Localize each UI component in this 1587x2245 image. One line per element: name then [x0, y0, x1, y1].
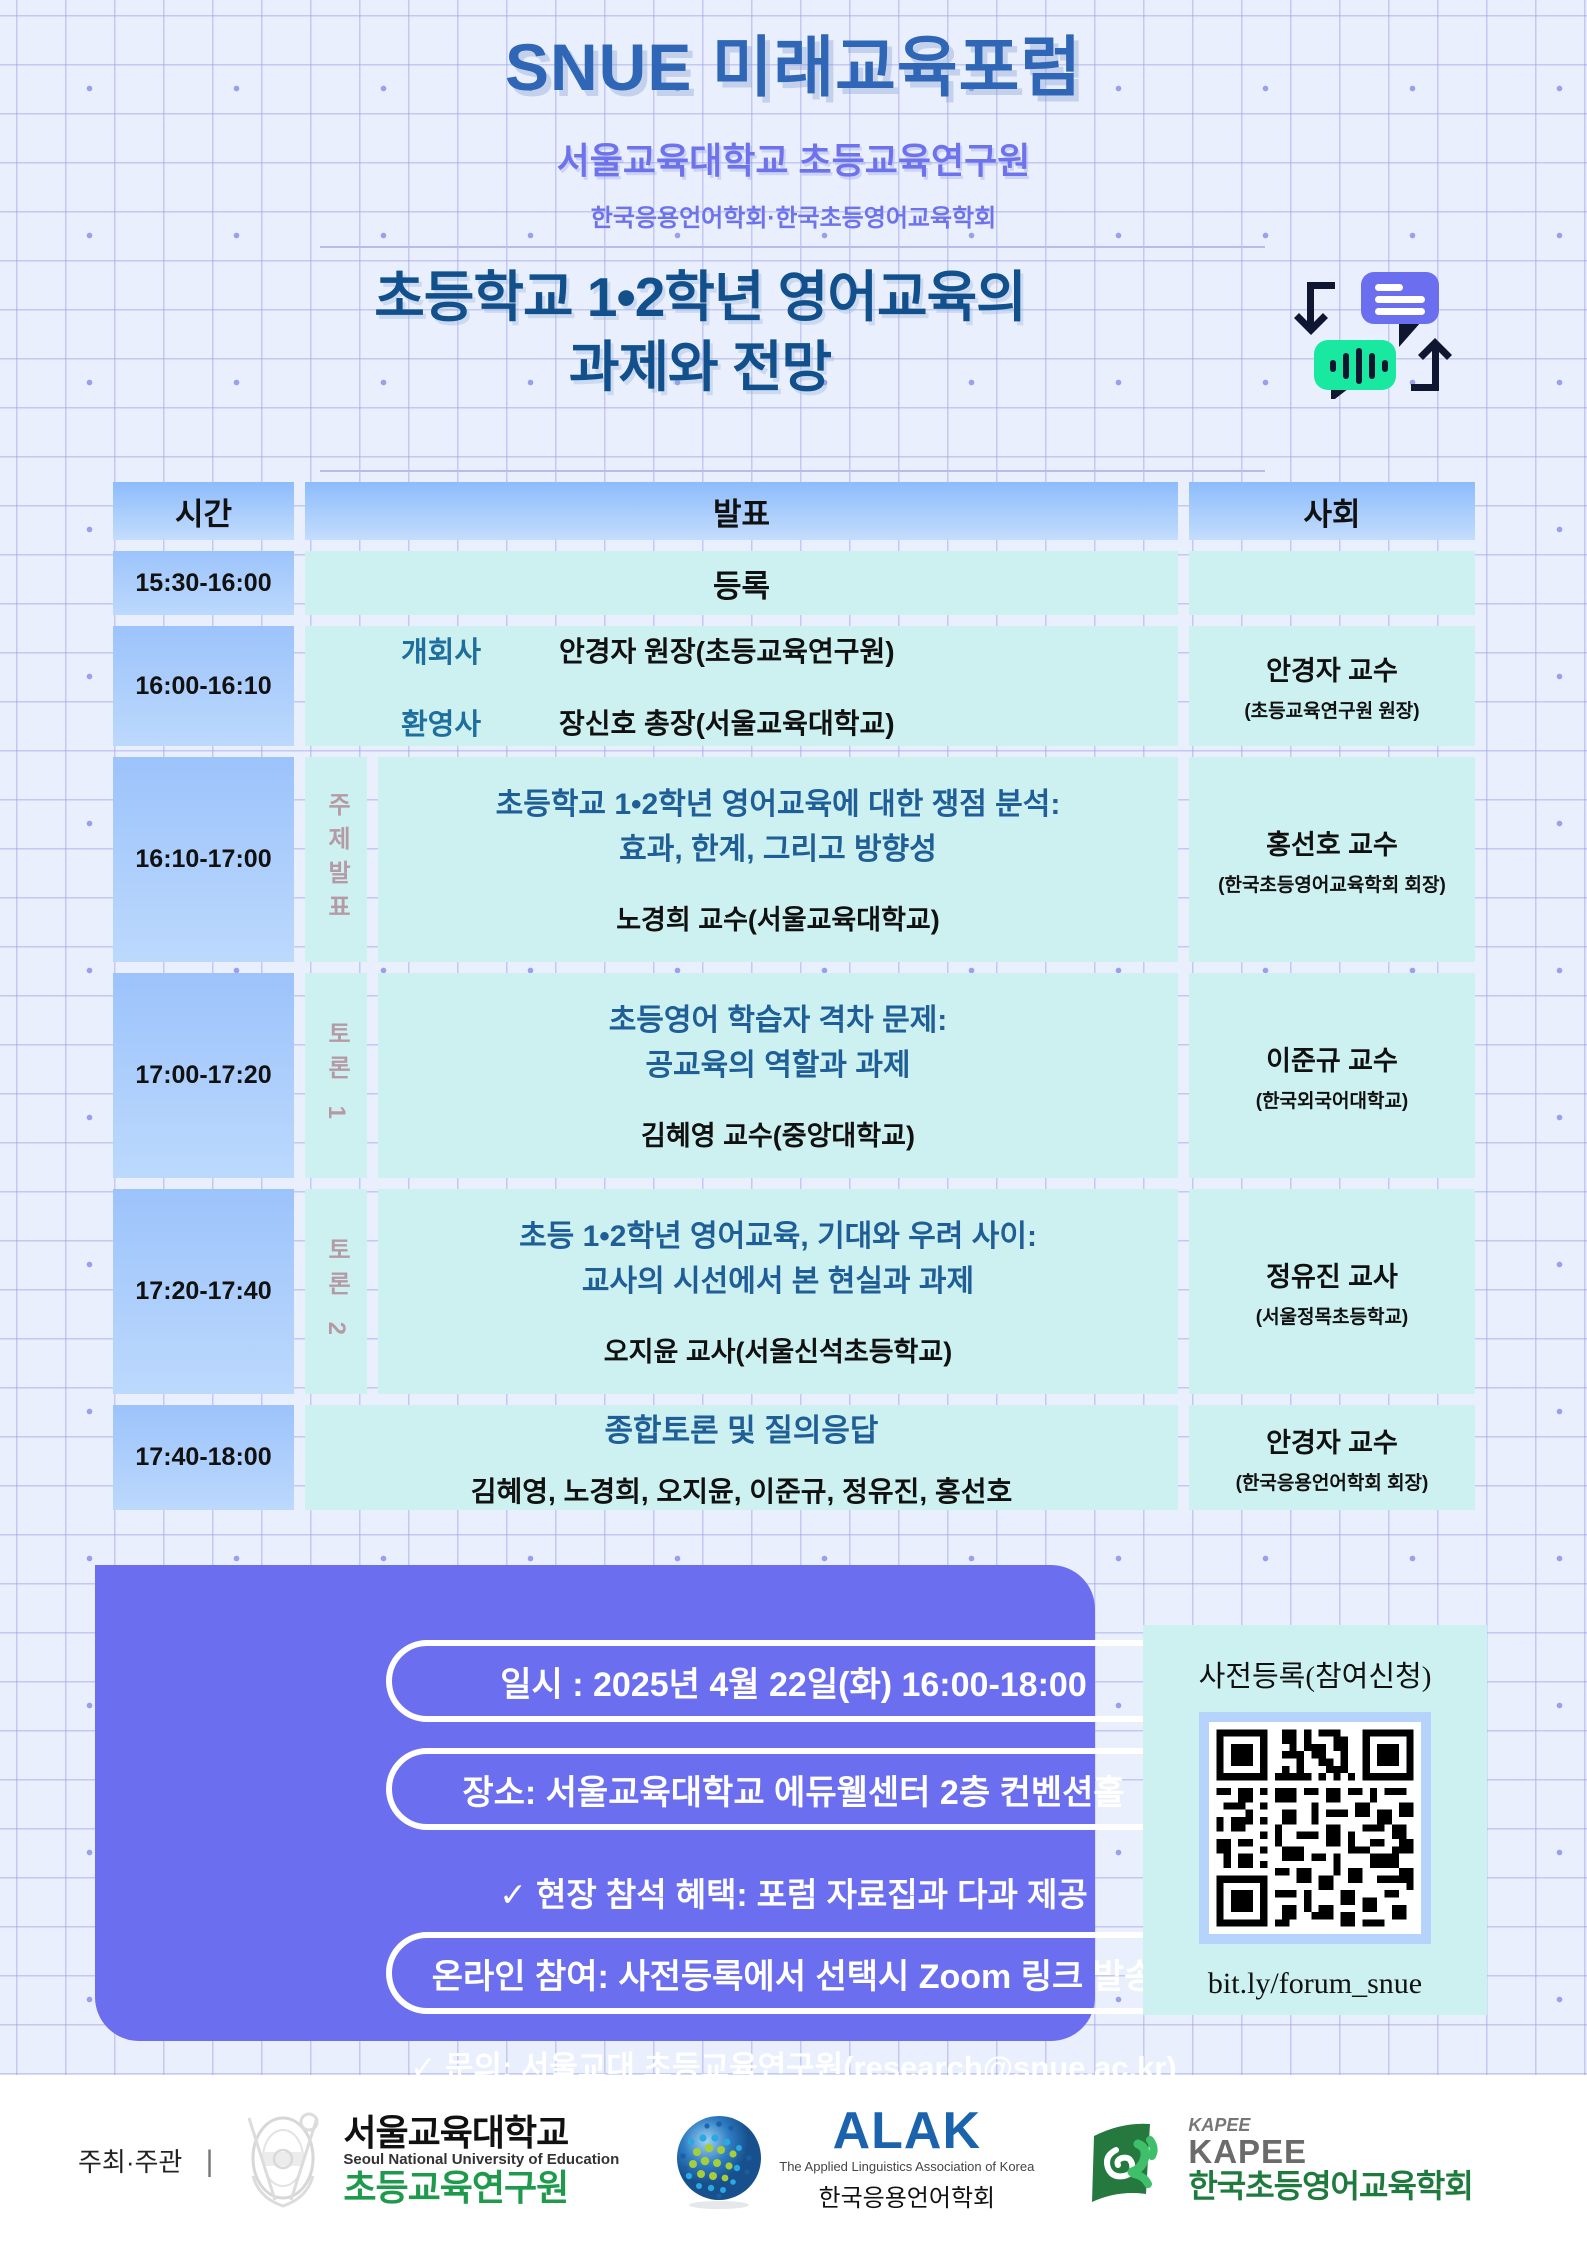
page-title-line-2: 과제와 전망: [200, 332, 1200, 402]
onsite-benefit-line: ✓ 현장 참석 혜택: 포럼 자료집과 다과 제공: [499, 1868, 1088, 1916]
snue-institute: 초등교육연구원: [343, 2169, 619, 2206]
page-title: 초등학교 1•2학년 영어교육의 과제와 전망: [200, 262, 1200, 403]
session-type-text: 토론 2: [324, 1237, 348, 1345]
row-time: 16:00-16:10: [113, 626, 294, 746]
row-time: 15:30-16:00: [113, 551, 294, 615]
row-time: 17:20-17:40: [113, 1189, 294, 1394]
host-name: 홍선호 교수: [1266, 823, 1398, 862]
alak-wordmark: ALAK: [779, 2107, 1034, 2157]
snue-text-block: 서울교육대학교 Seoul National University of Edu…: [343, 2114, 619, 2206]
poster-page: SNUE 미래교육포럼 서울교육대학교 초등교육연구원 한국응용언어학회·한국초…: [0, 0, 1587, 2245]
host-name: 안경자 교수: [1266, 1421, 1398, 1460]
table-row: 16:10-17:00 주제발표 초등학교 1•2학년 영어교육에 대한 쟁점 …: [113, 757, 1475, 962]
snue-name-kr: 서울교육대학교: [343, 2114, 619, 2151]
closing-title: 종합토론 및 질의응답: [605, 1405, 879, 1450]
host-label: 주최·주관 |: [78, 2142, 229, 2179]
session-type-label: 토론 2: [305, 1189, 367, 1394]
table-header-row: 시간 발표 사회: [113, 482, 1475, 540]
session-type-text: 토론 1: [324, 1021, 348, 1129]
session-type-label: 주제발표: [305, 757, 367, 962]
divider-bottom: [320, 470, 1265, 472]
logo-snue: 서울교육대학교 Seoul National University of Edu…: [235, 2104, 619, 2216]
logo-kapee: KAPEE KAPEE 한국초등영어교육학회: [1086, 2110, 1472, 2210]
brand-title: SNUE 미래교육포럼: [0, 0, 1587, 110]
host-affiliation: (한국초등영어교육학회 회장): [1218, 870, 1446, 897]
alak-name-en: The Applied Linguistics Association of K…: [779, 2159, 1034, 2174]
opening-text: 안경자 원장(초등교육연구원): [559, 630, 895, 670]
registration-panel[interactable]: 사전등록(참여신청): [1143, 1625, 1487, 2015]
session-type-label: 토론 1: [305, 973, 367, 1178]
snue-crest-icon: [235, 2104, 331, 2216]
column-header-presentation: 발표: [305, 482, 1178, 540]
host-affiliation: (서울정목초등학교): [1256, 1302, 1409, 1329]
closing-panelists: 김혜영, 노경희, 오지윤, 이준규, 정유진, 홍선호: [471, 1470, 1012, 1510]
row-host: 정유진 교사 (서울정목초등학교): [1189, 1189, 1475, 1394]
host-affiliation: (초등교육연구원 원장): [1244, 696, 1419, 723]
row-time: 17:00-17:20: [113, 973, 294, 1178]
session-content: 초등 1•2학년 영어교육, 기대와 우려 사이: 교사의 시선에서 본 현실과…: [378, 1189, 1178, 1394]
session-title-line-1: 초등학교 1•2학년 영어교육에 대한 쟁점 분석:: [496, 782, 1061, 827]
page-title-line-1: 초등학교 1•2학년 영어교육의: [200, 262, 1200, 332]
session-speaker: 노경희 교수(서울교육대학교): [616, 898, 940, 937]
session-speaker: 김혜영 교수(중앙대학교): [641, 1114, 915, 1153]
kapee-wordmark: KAPEE: [1188, 2135, 1472, 2170]
poster-header: SNUE 미래교육포럼 서울교육대학교 초등교육연구원 한국응용언어학회·한국초…: [0, 0, 1587, 233]
event-date-pill: 일시 : 2025년 4월 22일(화) 16:00-18:00: [386, 1640, 1202, 1722]
session-type-text: 주제발표: [324, 792, 348, 928]
event-place-pill: 장소: 서울교육대학교 에듀웰센터 2층 컨벤션홀: [386, 1748, 1202, 1830]
closing-block: 종합토론 및 질의응답 김혜영, 노경희, 오지윤, 이준규, 정유진, 홍선호: [471, 1405, 1012, 1510]
registration-caption: 사전등록(참여신청): [1143, 1653, 1487, 1695]
table-row: 17:40-18:00 종합토론 및 질의응답 김혜영, 노경희, 오지윤, 이…: [113, 1405, 1475, 1510]
snue-name-en: Seoul National University of Education: [343, 2152, 619, 2168]
organizer-line: 서울교육대학교 초등교육연구원: [0, 132, 1587, 184]
table-row: 17:00-17:20 토론 1 초등영어 학습자 격차 문제: 공교육의 역할…: [113, 973, 1475, 1178]
footer-sponsors: 주최·주관 | 서울교육대학교 Seoul National Universit…: [0, 2075, 1587, 2245]
session-title-line-2: 공교육의 역할과 과제: [645, 1043, 910, 1088]
associations-line: 한국응용언어학회·한국초등영어교육학회: [0, 198, 1587, 233]
host-name: 정유진 교사: [1266, 1255, 1398, 1294]
schedule-table: 시간 발표 사회 15:30-16:00 등록 16:00-16:10 개회사 …: [113, 482, 1475, 1521]
opening-block: 개회사 안경자 원장(초등교육연구원) 환영사 장신호 총장(서울교육대학교): [305, 626, 1178, 746]
host-name: 안경자 교수: [1266, 649, 1398, 688]
globe-dots-icon: [667, 2108, 771, 2212]
session-content: 초등영어 학습자 격차 문제: 공교육의 역할과 과제 김혜영 교수(중앙대학교…: [378, 973, 1178, 1178]
alak-name-kr: 한국응용언어학회: [779, 2178, 1034, 2213]
divider-top: [320, 246, 1265, 248]
kapee-leaf-icon: [1086, 2110, 1178, 2210]
row-host: 이준규 교수 (한국외국어대학교): [1189, 973, 1475, 1178]
info-panel-notch: [95, 1597, 420, 1643]
row-host: 홍선호 교수 (한국초등영어교육학회 회장): [1189, 757, 1475, 962]
column-header-time: 시간: [113, 482, 294, 540]
opening-tag: 개회사: [401, 629, 519, 671]
table-row: 15:30-16:00 등록: [113, 551, 1475, 615]
column-header-host: 사회: [1189, 482, 1475, 540]
row-title: 등록: [713, 561, 770, 606]
host-affiliation: (한국외국어대학교): [1256, 1086, 1409, 1113]
session-title-line-2: 효과, 한계, 그리고 방향성: [619, 827, 937, 872]
qr-code-icon[interactable]: [1209, 1722, 1421, 1934]
host-affiliation: (한국응용언어학회 회장): [1236, 1468, 1429, 1495]
opening-line: 환영사 장신호 총장(서울교육대학교): [401, 701, 1178, 743]
session-title-line-1: 초등 1•2학년 영어교육, 기대와 우려 사이:: [519, 1214, 1037, 1259]
session-content: 초등학교 1•2학년 영어교육에 대한 쟁점 분석: 효과, 한계, 그리고 방…: [378, 757, 1178, 962]
session-title-line-2: 교사의 시선에서 본 현실과 과제: [582, 1259, 974, 1304]
row-time: 17:40-18:00: [113, 1405, 294, 1510]
table-row: 17:20-17:40 토론 2 초등 1•2학년 영어교육, 기대와 우려 사…: [113, 1189, 1475, 1394]
kapee-name-kr: 한국초등영어교육학회: [1188, 2170, 1472, 2204]
logo-alak: ALAK The Applied Linguistics Association…: [667, 2107, 1034, 2214]
registration-url[interactable]: bit.ly/forum_snue: [1143, 1967, 1487, 2001]
row-host: [1189, 551, 1475, 615]
speech-bubble-exchange-icon: [1287, 264, 1472, 399]
row-time: 16:10-17:00: [113, 757, 294, 962]
alak-text-block: ALAK The Applied Linguistics Association…: [779, 2107, 1034, 2214]
opening-tag: 환영사: [401, 701, 519, 743]
host-divider: |: [206, 2145, 214, 2178]
session-title-line-1: 초등영어 학습자 격차 문제:: [609, 998, 948, 1043]
row-host: 안경자 교수 (한국응용언어학회 회장): [1189, 1405, 1475, 1510]
row-host: 안경자 교수 (초등교육연구원 원장): [1189, 626, 1475, 746]
online-participation-pill: 온라인 참여: 사전등록에서 선택시 Zoom 링크 발송: [386, 1932, 1202, 2014]
host-label-text: 주최·주관: [78, 2147, 182, 2177]
kapee-text-block: KAPEE KAPEE 한국초등영어교육학회: [1188, 2116, 1472, 2203]
qr-frame: [1199, 1712, 1431, 1944]
opening-line: 개회사 안경자 원장(초등교육연구원): [401, 629, 1178, 671]
host-name: 이준규 교수: [1266, 1039, 1398, 1078]
opening-text: 장신호 총장(서울교육대학교): [559, 702, 895, 742]
table-row: 16:00-16:10 개회사 안경자 원장(초등교육연구원) 환영사 장신호 …: [113, 626, 1475, 746]
session-speaker: 오지윤 교사(서울신석초등학교): [604, 1330, 952, 1369]
